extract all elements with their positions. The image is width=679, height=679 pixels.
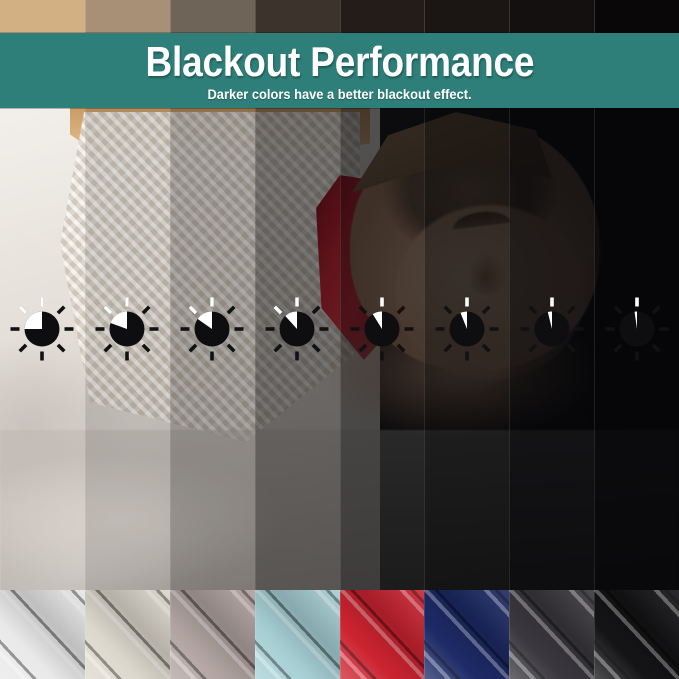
page-title: Blackout Performance [145,40,534,83]
top-color-band [170,0,255,33]
fabric-swatch-cream[interactable] [85,590,170,679]
blackout-performance-infographic: Blackout Performance Darker colors have … [0,0,679,679]
sun-brightness-icon [94,296,160,362]
top-color-band-strip [0,0,679,33]
fabric-sheen [170,590,255,679]
top-color-band [340,0,425,33]
fabric-swatch-white[interactable] [0,590,85,679]
fabric-sheen [509,590,594,679]
fabric-sheen [594,590,679,679]
fabric-swatch-taupe-grey[interactable] [170,590,255,679]
fabric-sheen [0,590,85,679]
fabric-swatch-light-blue[interactable] [255,590,340,679]
fabric-swatch-strip [0,590,679,679]
fabric-swatch-navy-blue[interactable] [424,590,509,679]
sun-brightness-icon [519,296,585,362]
top-color-band [509,0,594,33]
fabric-sheen [424,590,509,679]
sun-brightness-icon [434,296,500,362]
fabric-sheen [255,590,340,679]
sun-brightness-icon [9,296,75,362]
top-color-band [85,0,170,33]
sun-brightness-icon [349,296,415,362]
top-color-band [424,0,509,33]
sun-brightness-icon [604,296,670,362]
top-color-band [594,0,679,33]
fabric-swatch-red[interactable] [340,590,425,679]
fabric-swatch-black[interactable] [594,590,679,679]
headline-banner: Blackout Performance Darker colors have … [0,33,679,108]
fabric-swatch-dark-grey[interactable] [509,590,594,679]
top-color-band [255,0,340,33]
fabric-sheen [85,590,170,679]
sun-brightness-icon [264,296,330,362]
page-subtitle: Darker colors have a better blackout eff… [207,86,471,102]
sun-brightness-icon [179,296,245,362]
top-color-band [0,0,85,33]
fabric-sheen [340,590,425,679]
